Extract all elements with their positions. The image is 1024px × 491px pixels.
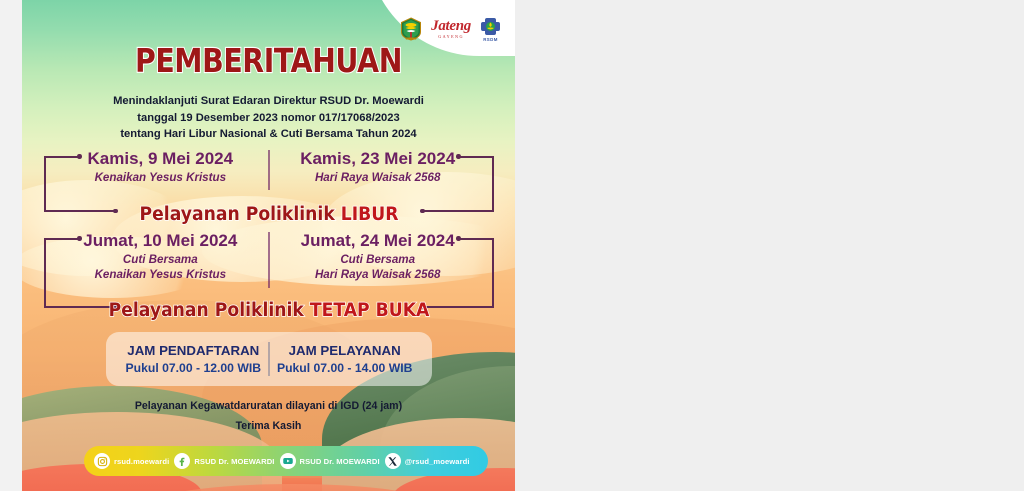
footnote-block: Pelayanan Kegawatdaruratan dilayani di I… [22,396,515,436]
jateng-provincial-emblem-icon [400,17,422,41]
column-divider [268,150,269,190]
date-column-right: Jumat, 24 Mei 2024 Cuti Bersama Hari Ray… [282,230,474,288]
date-column-left: Kamis, 9 Mei 2024 Kenaikan Yesus Kristus [64,148,256,190]
date-columns: Kamis, 9 Mei 2024 Kenaikan Yesus Kristus… [44,148,494,190]
jateng-wordmark: Jateng GAYENG [431,19,471,39]
date-columns: Jumat, 10 Mei 2024 Cuti Bersama Kenaikan… [44,230,494,288]
subtitle-line-1: Menindaklanjuti Surat Edaran Direktur RS… [22,93,515,110]
service-hours-title: JAM PELAYANAN [270,342,420,360]
date-label: Kamis, 9 Mei 2024 [64,148,256,170]
holiday-group-tetap-buka: Jumat, 10 Mei 2024 Cuti Bersama Kenaikan… [44,230,494,320]
social-item-facebook[interactable]: RSUD Dr. MOEWARDI [174,453,274,469]
social-handle-x-twitter: @rsud_moewardi [405,457,470,466]
subtitle-line-3: tentang Hari Libur Nasional & Cuti Bersa… [22,126,515,143]
service-hours-value: Pukul 07.00 - 14.00 WIB [270,360,420,377]
social-item-instagram[interactable]: rsud.moewardi [94,453,169,469]
red-dune-center [152,484,432,491]
page-left-gutter [0,0,22,491]
date-note-1: Cuti Bersama [64,252,256,267]
social-handle-youtube: RSUD Dr. MOEWARDI [300,457,380,466]
registration-hours: JAM PENDAFTARAN Pukul 07.00 - 12.00 WIB [118,342,268,377]
logo-row: Jateng GAYENG RSDM [400,16,501,42]
date-label: Kamis, 23 Mei 2024 [282,148,474,170]
social-handle-instagram: rsud.moewardi [114,457,169,466]
banner-highlight: TETAP BUKA [310,300,430,321]
date-column-left: Jumat, 10 Mei 2024 Cuti Bersama Kenaikan… [64,230,256,288]
date-label: Jumat, 24 Mei 2024 [282,230,474,252]
date-label: Jumat, 10 Mei 2024 [64,230,256,252]
date-column-right: Kamis, 23 Mei 2024 Hari Raya Waisak 2568 [282,148,474,190]
footnote-line-1: Pelayanan Kegawatdaruratan dilayani di I… [22,396,515,416]
column-divider [268,232,269,288]
rsdm-cross-icon [480,17,501,36]
rsdm-logo-label: RSDM [483,37,498,42]
date-note: Kenaikan Yesus Kristus [64,170,256,185]
holiday-group-libur: Kamis, 9 Mei 2024 Kenaikan Yesus Kristus… [44,148,494,224]
registration-hours-title: JAM PENDAFTARAN [118,342,268,360]
subtitle-line-2: tanggal 19 Desember 2023 nomor 017/17068… [22,110,515,127]
social-item-x-twitter[interactable]: @rsud_moewardi [385,453,470,469]
x-twitter-icon[interactable] [385,453,401,469]
banner-prefix: Pelayanan Poliklinik [109,300,310,321]
date-note-2: Kenaikan Yesus Kristus [64,267,256,282]
rsdm-logo: RSDM [480,17,501,42]
date-note-2: Hari Raya Waisak 2568 [282,267,474,282]
facebook-icon[interactable] [174,453,190,469]
social-item-youtube[interactable]: RSUD Dr. MOEWARDI [280,453,380,469]
jateng-wordmark-sub: GAYENG [431,35,471,39]
banner-highlight: LIBUR [341,204,399,225]
banner-prefix: Pelayanan Poliklinik [140,204,341,225]
subtitle-block: Menindaklanjuti Surat Edaran Direktur RS… [22,93,515,143]
service-hours-panel: JAM PENDAFTARAN Pukul 07.00 - 12.00 WIB … [106,332,432,386]
instagram-icon[interactable] [94,453,110,469]
date-note-1: Cuti Bersama [282,252,474,267]
date-note: Hari Raya Waisak 2568 [282,170,474,185]
status-banner-tetap-buka: Pelayanan Poliklinik TETAP BUKA [60,300,479,321]
footnote-line-2: Terima Kasih [22,416,515,436]
social-handle-facebook: RSUD Dr. MOEWARDI [194,457,274,466]
social-media-bar: rsud.moewardi RSUD Dr. MOEWARDI RSUD Dr.… [84,446,488,476]
registration-hours-value: Pukul 07.00 - 12.00 WIB [118,360,268,377]
hours-divider [268,342,269,376]
page-title: PEMBERITAHUAN [57,44,481,77]
service-hours: JAM PELAYANAN Pukul 07.00 - 14.00 WIB [270,342,420,377]
announcement-poster: Jateng GAYENG RSDM PEMBERITAHUAN Meninda… [22,0,515,491]
status-banner-libur: Pelayanan Poliklinik LIBUR [60,204,479,225]
jateng-wordmark-text: Jateng [431,18,471,34]
youtube-icon[interactable] [280,453,296,469]
